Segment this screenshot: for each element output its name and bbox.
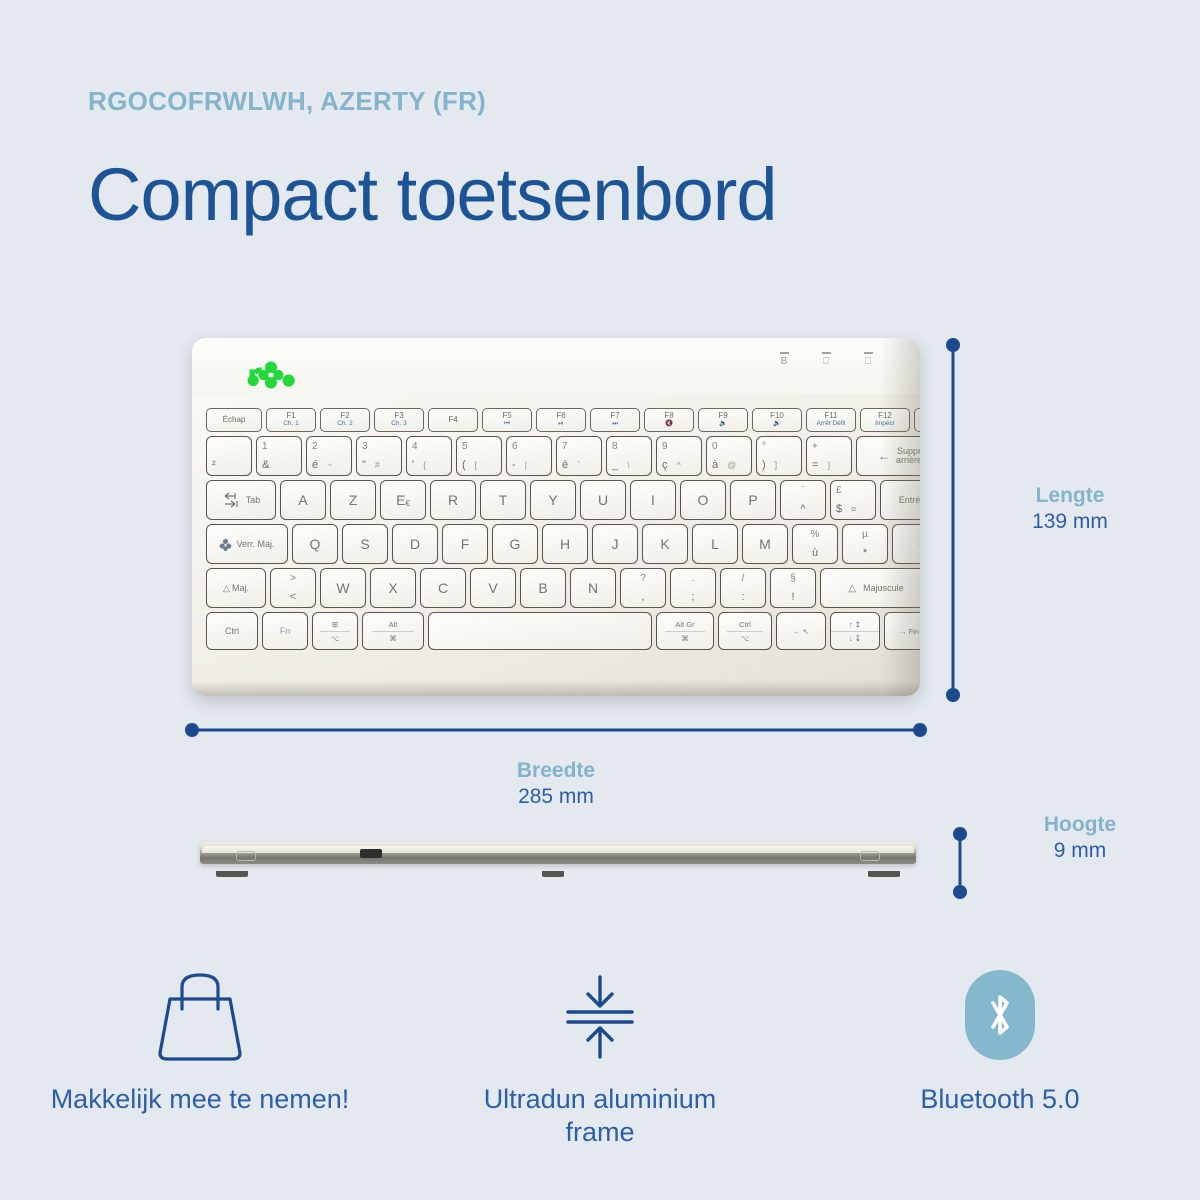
key-h[interactable]: H: [542, 524, 588, 564]
bluetooth-indicator-icon: B: [775, 352, 793, 374]
caps-lock-indicator-icon: ⎕: [817, 352, 835, 374]
key-d[interactable]: D: [392, 524, 438, 564]
key-comma[interactable]: ?,: [620, 568, 666, 608]
key-z[interactable]: Z: [330, 480, 376, 520]
side-body: [200, 842, 916, 864]
key-colon[interactable]: /:: [720, 568, 766, 608]
number-key-row: ² 1& 2é~ 3"# 4'{ 5([ 6-| 7è` 8_\ 9ç^ 0à@…: [206, 436, 906, 476]
num-lock-indicator-icon: ⎕: [859, 352, 877, 374]
key-right-ctrl[interactable]: Ctrl⌥: [718, 612, 772, 650]
keyboard-side-view: [200, 838, 916, 874]
key-x[interactable]: X: [370, 568, 416, 608]
key-superscript-two[interactable]: ²: [206, 436, 252, 476]
key-fn[interactable]: Fn: [262, 612, 308, 650]
key-f1[interactable]: F1Ch. 1: [266, 408, 316, 432]
feature-portable: Makkelijk mee te nemen!: [0, 965, 400, 1151]
key-degree[interactable]: °)]: [756, 436, 802, 476]
product-sku: RGOCOFRWLWH, AZERTY (FR): [88, 86, 486, 117]
key-f6[interactable]: F6⏯: [536, 408, 586, 432]
key-j[interactable]: J: [592, 524, 638, 564]
key-circumflex[interactable]: ¨^: [780, 480, 826, 520]
thin-frame-icon: [548, 965, 652, 1065]
width-dimension-line: [192, 723, 920, 737]
side-foot-left: [216, 871, 248, 877]
key-alt-gr[interactable]: Alt Gr⌘: [656, 612, 714, 650]
key-left-shift[interactable]: △Maj.: [206, 568, 266, 608]
bluetooth-icon: [965, 965, 1035, 1065]
feature-thin-frame-label: Ultradun aluminium frame: [450, 1083, 750, 1151]
key-g[interactable]: G: [492, 524, 538, 564]
keyboard-edge-shadow: [880, 338, 920, 696]
key-a[interactable]: A: [280, 480, 326, 520]
feature-bluetooth-label: Bluetooth 5.0: [920, 1083, 1079, 1117]
key-f2[interactable]: F2Ch. 2: [320, 408, 370, 432]
key-b[interactable]: B: [520, 568, 566, 608]
infographic-page: RGOCOFRWLWH, AZERTY (FR) Compact toetsen…: [0, 0, 1200, 1200]
key-4[interactable]: 4'{: [406, 436, 452, 476]
key-o[interactable]: O: [680, 480, 726, 520]
shopping-bag-icon: [148, 965, 252, 1065]
key-exclamation[interactable]: §!: [770, 568, 816, 608]
key-i[interactable]: I: [630, 480, 676, 520]
key-3[interactable]: 3"#: [356, 436, 402, 476]
key-caps-lock[interactable]: Verr. Maj.: [206, 524, 288, 564]
key-s[interactable]: S: [342, 524, 388, 564]
key-f11[interactable]: F11Arrêt Défil: [806, 408, 856, 432]
feature-thin-frame: Ultradun aluminium frame: [400, 965, 800, 1151]
key-u[interactable]: U: [580, 480, 626, 520]
key-rows: Échap F1Ch. 1 F2Ch. 2 F3Ch. 3 F4 F5⏮ F6⏯…: [206, 408, 906, 654]
key-windows-option[interactable]: ⊞⌥: [312, 612, 358, 650]
keyboard-bezel: [192, 338, 920, 394]
key-5[interactable]: 5([: [456, 436, 502, 476]
key-f3[interactable]: F3Ch. 3: [374, 408, 424, 432]
key-tab[interactable]: Tab: [206, 480, 276, 520]
key-6[interactable]: 6-|: [506, 436, 552, 476]
page-title: Compact toetsenbord: [88, 152, 777, 237]
key-alt-command[interactable]: Alt⌘: [362, 612, 424, 650]
side-notch-left: [236, 851, 256, 861]
key-0[interactable]: 0à@: [706, 436, 752, 476]
space-key-row: Ctrl Fn ⊞⌥ Alt⌘ Alt Gr⌘ Ctrl⌥ ← ↖ ↑ ↥↓ ↧…: [206, 612, 906, 650]
keyboard-bottom-shadow: [192, 680, 920, 696]
home-letter-row: Verr. Maj. Q S D F G H J K L M %ù µ* ↵: [206, 524, 906, 564]
r-go-logo-icon: [242, 356, 298, 394]
key-f4[interactable]: F4: [428, 408, 478, 432]
key-percent-ugrave[interactable]: %ù: [792, 524, 838, 564]
key-space[interactable]: [428, 612, 652, 650]
key-1[interactable]: 1&: [256, 436, 302, 476]
caps-lock-icon: [219, 538, 232, 551]
tab-icon: [222, 492, 240, 508]
feature-row: Makkelijk mee te nemen! Ultradun alumini…: [0, 965, 1200, 1151]
key-f7[interactable]: F7⏭: [590, 408, 640, 432]
key-escape[interactable]: Échap: [206, 408, 262, 432]
function-key-row: Échap F1Ch. 1 F2Ch. 2 F3Ch. 3 F4 F5⏮ F6⏯…: [206, 408, 906, 432]
top-letter-row: Tab A Z E€ R T Y U I O P ¨^ £$¤ Entrée: [206, 480, 906, 520]
key-f9[interactable]: F9🔉: [698, 408, 748, 432]
height-dimension-label: Hoogte 9 mm: [985, 812, 1175, 865]
key-semicolon[interactable]: .;: [670, 568, 716, 608]
side-notch-right: [860, 851, 880, 861]
key-7[interactable]: 7è`: [556, 436, 602, 476]
key-t[interactable]: T: [480, 480, 526, 520]
key-9[interactable]: 9ç^: [656, 436, 702, 476]
key-n[interactable]: N: [570, 568, 616, 608]
key-f5[interactable]: F5⏮: [482, 408, 532, 432]
key-k[interactable]: K: [642, 524, 688, 564]
key-c[interactable]: C: [420, 568, 466, 608]
key-equals[interactable]: +=}: [806, 436, 852, 476]
key-home[interactable]: ← ↖: [776, 612, 826, 650]
feature-portable-label: Makkelijk mee te nemen!: [51, 1083, 350, 1117]
key-page-updown[interactable]: ↑ ↥↓ ↧: [830, 612, 880, 650]
key-2[interactable]: 2é~: [306, 436, 352, 476]
feature-bluetooth: Bluetooth 5.0: [800, 965, 1200, 1151]
key-left-ctrl[interactable]: Ctrl: [206, 612, 258, 650]
side-foot-right: [868, 871, 900, 877]
side-foot-middle: [542, 871, 564, 877]
key-f8[interactable]: F8🔇: [644, 408, 694, 432]
key-w[interactable]: W: [320, 568, 366, 608]
usb-port-icon: [360, 849, 382, 858]
key-m[interactable]: M: [742, 524, 788, 564]
key-r[interactable]: R: [430, 480, 476, 520]
width-dimension-label: Breedte 285 mm: [392, 758, 720, 811]
keyboard-top-view: B ⎕ ⎕ Échap F1Ch. 1 F2Ch. 2 F3Ch. 3 F4 F…: [192, 338, 920, 696]
key-l[interactable]: L: [692, 524, 738, 564]
key-f10[interactable]: F10🔊: [752, 408, 802, 432]
side-top-surface: [202, 846, 914, 853]
bluetooth-badge: [965, 970, 1035, 1060]
key-8[interactable]: 8_\: [606, 436, 652, 476]
key-e-euro[interactable]: E€: [380, 480, 426, 520]
key-v[interactable]: V: [470, 568, 516, 608]
key-y[interactable]: Y: [530, 480, 576, 520]
key-f[interactable]: F: [442, 524, 488, 564]
key-less-greater[interactable]: ><: [270, 568, 316, 608]
key-dollar-pound[interactable]: £$¤: [830, 480, 876, 520]
key-q[interactable]: Q: [292, 524, 338, 564]
length-dimension-label: Lengte 139 mm: [975, 483, 1165, 536]
bottom-letter-row: △Maj. >< W X C V B N ?, .; /: §! △Majusc…: [206, 568, 906, 608]
key-p[interactable]: P: [730, 480, 776, 520]
